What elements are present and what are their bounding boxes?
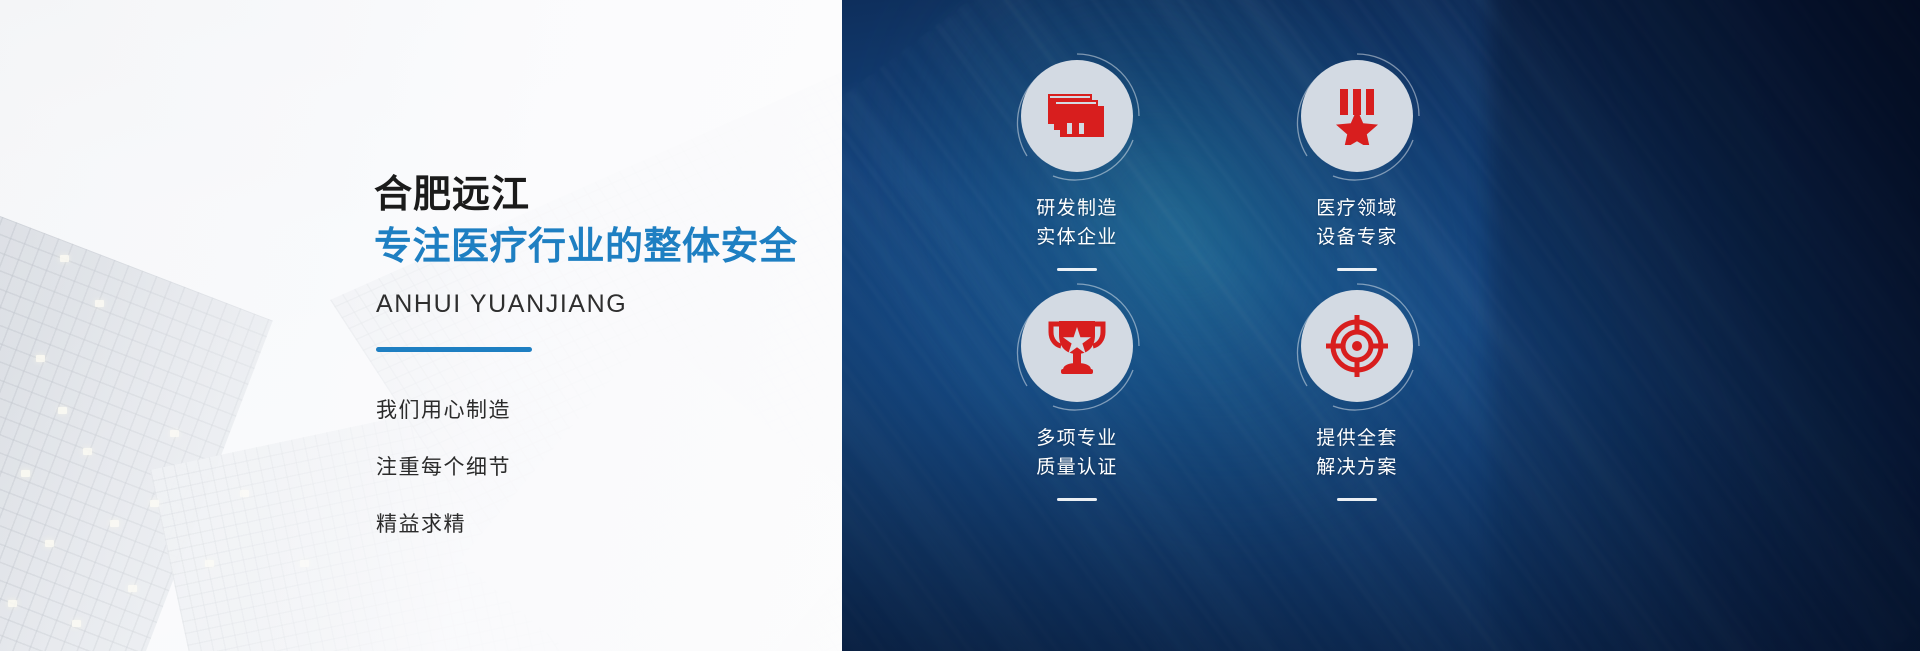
icon-disc xyxy=(1301,290,1413,402)
icon-disc xyxy=(1301,60,1413,172)
trophy-icon xyxy=(1047,317,1107,375)
left-panel: 合肥远江 专注医疗行业的整体安全 ANHUI YUANJIANG 我们用心制造 … xyxy=(0,0,842,651)
feature-label-line1: 提供全套 xyxy=(1242,424,1472,453)
target-icon xyxy=(1326,315,1388,377)
feature-underline xyxy=(1337,268,1377,271)
accent-divider xyxy=(376,347,532,352)
feature-item-quality-certification[interactable]: 多项专业 质量认证 xyxy=(962,290,1192,501)
company-name-heading: 合肥远江 xyxy=(374,176,530,214)
left-text-block: 合肥远江 专注医疗行业的整体安全 ANHUI YUANJIANG 我们用心制造 … xyxy=(374,0,842,651)
feature-item-total-solution[interactable]: 提供全套 解决方案 xyxy=(1242,290,1472,501)
tagline-item: 注重每个细节 xyxy=(376,451,706,481)
feature-label: 医疗领域 设备专家 xyxy=(1242,194,1472,252)
icon-wrapper xyxy=(1021,60,1133,172)
feature-label: 多项专业 质量认证 xyxy=(962,424,1192,482)
icon-disc xyxy=(1021,290,1133,402)
feature-label-line2: 设备专家 xyxy=(1242,223,1472,252)
feature-underline xyxy=(1337,498,1377,501)
icon-wrapper xyxy=(1301,60,1413,172)
right-panel: 研发制造 实体企业 xyxy=(842,0,1920,651)
feature-label: 提供全套 解决方案 xyxy=(1242,424,1472,482)
icon-wrapper xyxy=(1301,290,1413,402)
medal-icon xyxy=(1332,87,1382,145)
icon-disc xyxy=(1021,60,1133,172)
company-hero-banner: 合肥远江 专注医疗行业的整体安全 ANHUI YUANJIANG 我们用心制造 … xyxy=(0,0,1920,651)
feature-item-rd-manufacturing[interactable]: 研发制造 实体企业 xyxy=(962,60,1192,271)
feature-label-line2: 质量认证 xyxy=(962,453,1192,482)
tagline-item: 精益求精 xyxy=(376,508,706,538)
icon-wrapper xyxy=(1021,290,1133,402)
factory-icon xyxy=(1046,90,1108,142)
company-name-pinyin: ANHUI YUANJIANG xyxy=(376,292,627,317)
feature-label-line2: 解决方案 xyxy=(1242,453,1472,482)
tagline-item: 我们用心制造 xyxy=(376,394,706,424)
tagline-list: 我们用心制造 注重每个细节 精益求精 xyxy=(376,394,706,565)
feature-label: 研发制造 实体企业 xyxy=(962,194,1192,252)
feature-label-line2: 实体企业 xyxy=(962,223,1192,252)
feature-label-line1: 医疗领域 xyxy=(1242,194,1472,223)
company-slogan-heading: 专注医疗行业的整体安全 xyxy=(374,228,798,266)
feature-underline xyxy=(1057,268,1097,271)
feature-grid: 研发制造 实体企业 xyxy=(842,0,1920,651)
feature-underline xyxy=(1057,498,1097,501)
feature-label-line1: 多项专业 xyxy=(962,424,1192,453)
feature-label-line1: 研发制造 xyxy=(962,194,1192,223)
feature-item-medical-expert[interactable]: 医疗领域 设备专家 xyxy=(1242,60,1472,271)
